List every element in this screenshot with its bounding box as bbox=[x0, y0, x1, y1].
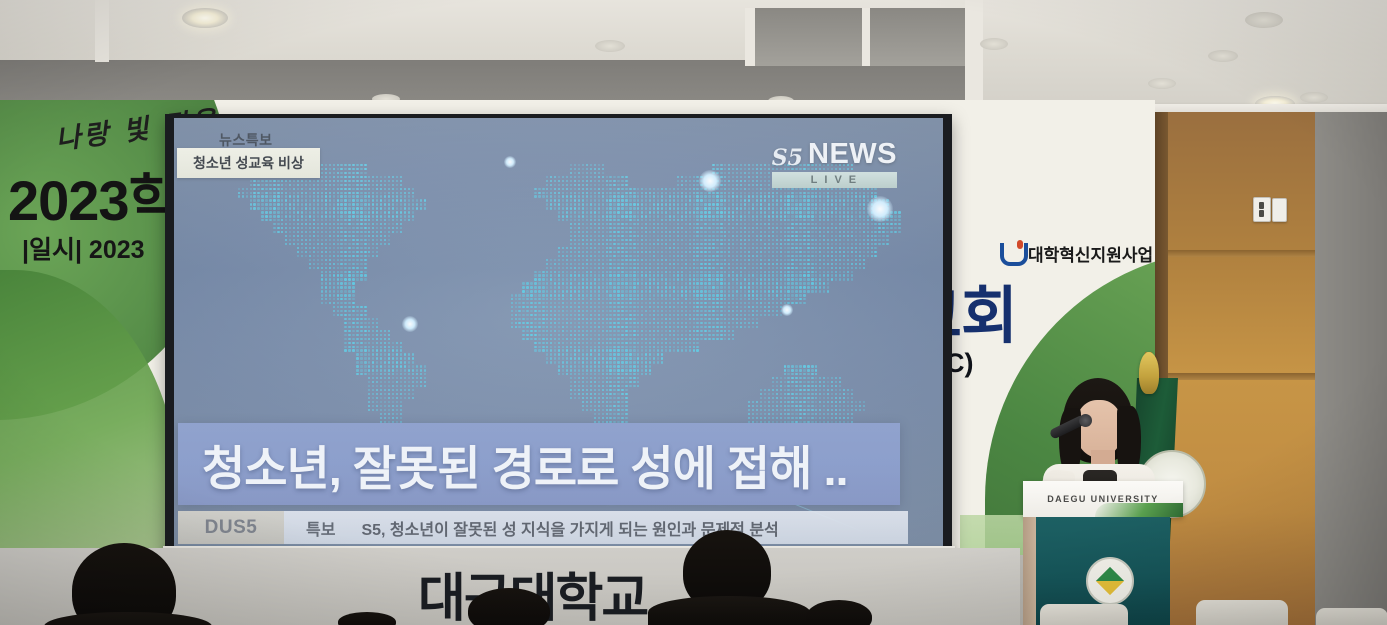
wooden-pillar bbox=[1168, 112, 1315, 625]
slide-kicker: 뉴스특보 bbox=[219, 130, 273, 150]
chair-back bbox=[1316, 608, 1387, 625]
ceiling-beam-right bbox=[965, 0, 983, 112]
ceiling bbox=[0, 0, 1387, 112]
recessed-downlight bbox=[980, 38, 1008, 50]
recessed-downlight bbox=[595, 40, 625, 52]
seal-diamond-icon bbox=[1096, 567, 1124, 595]
projection-screen: 뉴스특보 청소년 성교육 비상 S5 NEWS LIVE 청소년, 잘못된 경로… bbox=[174, 118, 943, 551]
news-logo-prefix: S5 bbox=[772, 147, 803, 169]
outlet-slot-icon bbox=[1259, 210, 1264, 217]
recessed-downlight bbox=[182, 8, 228, 28]
recessed-downlight bbox=[1208, 50, 1238, 62]
light-switch[interactable] bbox=[1272, 198, 1287, 222]
ticker-brand: DUS5 bbox=[178, 511, 284, 544]
u-mark-icon bbox=[1000, 240, 1023, 266]
ceiling-beam-center bbox=[745, 8, 755, 66]
lectern-top-panel: DAEGU UNIVERSITY bbox=[1023, 481, 1183, 517]
recessed-downlight bbox=[1300, 92, 1328, 103]
map-glow-point bbox=[867, 196, 893, 222]
news-ticker: DUS5 특보 S5, 청소년이 잘못된 성 지식을 가지게 되는 원인과 문제… bbox=[178, 511, 908, 544]
outlet-slot-icon bbox=[1259, 202, 1264, 209]
room: 나랑 빛 각음 2023학년 |일시| 2023 대학혁신지원사업 고회 -LA… bbox=[0, 0, 1387, 625]
ceiling-beam-center2 bbox=[862, 8, 870, 66]
world-map-dots bbox=[202, 152, 914, 460]
chair-back bbox=[1040, 604, 1128, 625]
side-wall bbox=[1315, 112, 1387, 625]
power-outlet[interactable] bbox=[1253, 197, 1271, 222]
pillar-band bbox=[1168, 250, 1315, 257]
recessed-downlight bbox=[1245, 12, 1283, 28]
lectern-label: DAEGU UNIVERSITY bbox=[1047, 494, 1158, 504]
map-glow-point bbox=[402, 316, 418, 332]
conference-photo-scene: 나랑 빛 각음 2023학년 |일시| 2023 대학혁신지원사업 고회 -LA… bbox=[0, 0, 1387, 625]
innovation-program-logo: 대학혁신지원사업 bbox=[1000, 240, 1153, 266]
headline-band: 청소년, 잘못된 경로로 성에 접해 .. bbox=[178, 423, 900, 505]
ceiling-beam-left bbox=[95, 0, 109, 62]
news-logo: S5 NEWS LIVE bbox=[772, 140, 897, 188]
daegu-university-seal bbox=[1086, 557, 1134, 605]
ticker-kind: 특보 bbox=[306, 516, 335, 540]
map-glow-point bbox=[699, 170, 721, 192]
news-logo-name: NEWS bbox=[808, 140, 897, 169]
chair-back bbox=[1196, 600, 1288, 625]
pillar-band bbox=[1168, 373, 1315, 380]
audience-head bbox=[338, 612, 396, 625]
lectern-side bbox=[1023, 517, 1037, 625]
ticker-body: 특보 S5, 청소년이 잘못된 성 지식을 가지게 되는 원인과 문제점 분석 bbox=[284, 511, 908, 544]
microphone-head-icon bbox=[1079, 414, 1092, 427]
headline-text: 청소년, 잘못된 경로로 성에 접해 .. bbox=[178, 430, 848, 499]
innovation-program-label: 대학혁신지원사업 bbox=[1028, 241, 1153, 266]
map-glow-point bbox=[781, 304, 793, 316]
live-badge: LIVE bbox=[772, 172, 897, 188]
banner-date-text: |일시| 2023 bbox=[22, 230, 145, 266]
map-glow-point bbox=[504, 156, 516, 168]
audience-shoulders bbox=[648, 596, 810, 625]
recessed-downlight bbox=[1148, 78, 1176, 89]
slide-kicker-box: 청소년 성교육 비상 bbox=[177, 148, 320, 178]
